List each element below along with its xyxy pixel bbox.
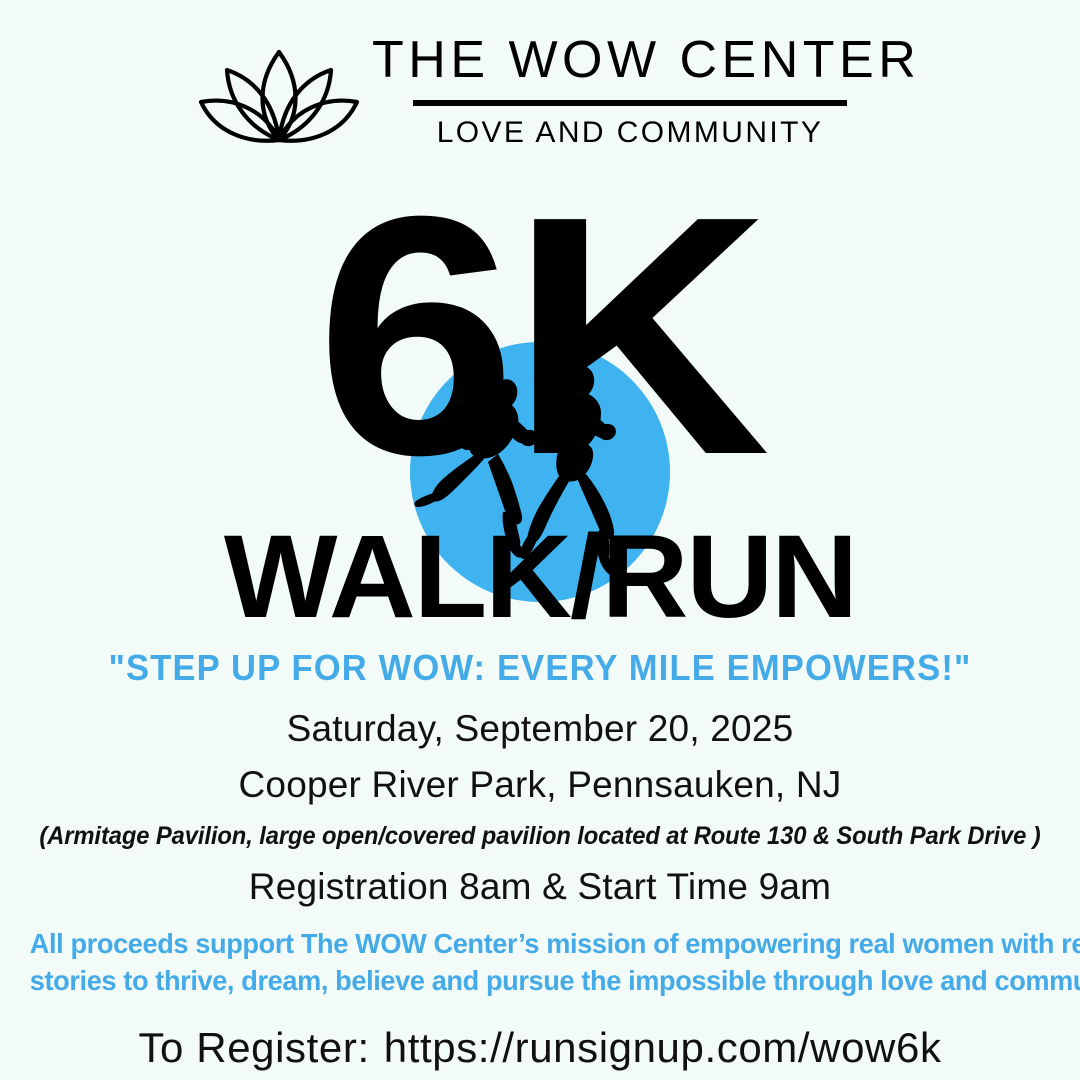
event-date: Saturday, September 20, 2025 xyxy=(0,705,1080,753)
registration-label: To Register: xyxy=(138,1024,369,1071)
event-location-note: (Armitage Pavilion, large open/covered p… xyxy=(27,819,1053,853)
registration-line: To Register:https://runsignup.com/wow6k xyxy=(0,1022,1080,1074)
mission-line-2: stories to thrive, dream, believe and pu… xyxy=(30,962,1050,999)
event-times: Registration 8am & Start Time 9am xyxy=(0,863,1080,911)
hero-graphic: 6K WALK/RUN xyxy=(0,0,1080,650)
distance-title: 6K xyxy=(0,186,1080,486)
event-slogan: "STEP UP FOR WOW: EVERY MILE EMPOWERS!" xyxy=(22,648,1059,688)
event-flyer: THE WOW CENTER LOVE AND COMMUNITY xyxy=(0,0,1080,1080)
activity-title: WALK/RUN xyxy=(0,518,1080,636)
mission-line-1: All proceeds support The WOW Center’s mi… xyxy=(30,925,1050,962)
registration-url[interactable]: https://runsignup.com/wow6k xyxy=(384,1024,942,1071)
mission-statement: All proceeds support The WOW Center’s mi… xyxy=(30,925,1050,999)
event-details: Saturday, September 20, 2025 Cooper Rive… xyxy=(0,705,1080,911)
event-location: Cooper River Park, Pennsauken, NJ xyxy=(0,761,1080,809)
